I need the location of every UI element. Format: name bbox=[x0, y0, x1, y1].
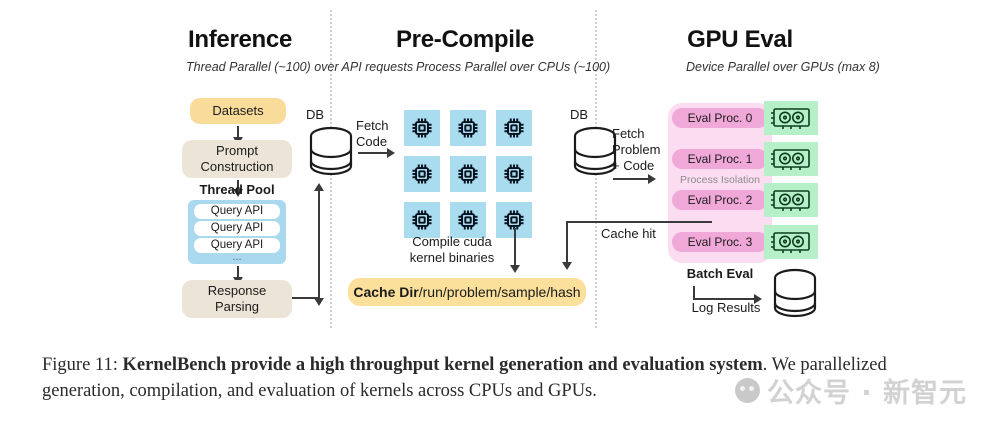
line-response-to-db-vertical bbox=[318, 190, 320, 299]
database-cylinder-inference bbox=[308, 126, 354, 182]
line-cache-hit-horizontal bbox=[566, 221, 712, 223]
cache-hit-label: Cache hit bbox=[601, 226, 656, 242]
compile-note-label: Compile cuda kernel binaries bbox=[388, 234, 516, 266]
batch-eval-label: Batch Eval bbox=[668, 266, 772, 282]
arrow-fetch-code bbox=[358, 152, 388, 154]
thread-pool-title: Thread Pool bbox=[182, 182, 292, 198]
eval-proc-pill: Eval Proc. 2 bbox=[672, 190, 768, 210]
datasets-box: Datasets bbox=[190, 98, 286, 124]
arrow-chips-to-cachedir bbox=[514, 228, 516, 266]
response-parsing-box: Response Parsing bbox=[182, 280, 292, 318]
caption-prefix: Figure 11: bbox=[42, 355, 123, 375]
caption-bold: KernelBench provide a high throughput ke… bbox=[123, 355, 763, 375]
eval-proc-pill: Eval Proc. 0 bbox=[672, 108, 768, 128]
column-title-precompile: Pre-Compile bbox=[385, 26, 545, 54]
arrow-threadpool-to-response bbox=[237, 266, 239, 278]
log-results-label: Log Results bbox=[676, 300, 776, 316]
arrow-cache-hit-down bbox=[566, 221, 568, 263]
diagram-canvas: Inference Thread Parallel (~100) over AP… bbox=[0, 0, 1000, 340]
arrow-datasets-to-prompt bbox=[237, 126, 239, 138]
figure-caption: Figure 11: KernelBench provide a high th… bbox=[42, 352, 958, 404]
cpu-chip-icon bbox=[404, 110, 440, 146]
query-api-item: Query API bbox=[194, 204, 280, 219]
eval-proc-pill: Eval Proc. 3 bbox=[672, 232, 768, 252]
cache-dir-path: /run/problem/sample/hash bbox=[419, 284, 581, 300]
arrow-fetch-problem bbox=[613, 178, 649, 180]
fetch-code-label: Fetch Code bbox=[356, 118, 389, 150]
results-database-cylinder bbox=[772, 268, 818, 324]
column-subtitle-gpueval: Device Parallel over GPUs (max 8) bbox=[686, 60, 880, 75]
cpu-chip-icon bbox=[450, 156, 486, 192]
arrowhead-into-db-inference bbox=[314, 183, 324, 191]
db-label-2: DB bbox=[570, 107, 588, 122]
gpu-card-icon bbox=[764, 225, 818, 259]
cpu-chip-icon bbox=[450, 110, 486, 146]
fetch-problem-label: Fetch Problem + Code bbox=[612, 126, 660, 174]
cpu-chip-icon bbox=[404, 156, 440, 192]
cpu-chip-icon bbox=[496, 110, 532, 146]
cpu-chip-icon bbox=[496, 156, 532, 192]
cpu-chip-icon bbox=[450, 202, 486, 238]
cache-dir-label: Cache Dir bbox=[353, 284, 418, 300]
gpu-card-icon bbox=[764, 142, 818, 176]
db-label-1: DB bbox=[306, 107, 324, 122]
column-title-gpueval: GPU Eval bbox=[660, 26, 820, 54]
query-api-ellipsis: ... bbox=[194, 249, 280, 265]
gpu-card-icon bbox=[764, 101, 818, 135]
cpu-chip-icon bbox=[404, 202, 440, 238]
query-api-item: Query API bbox=[194, 221, 280, 236]
gpu-card-icon bbox=[764, 183, 818, 217]
eval-proc-pill: Eval Proc. 1 bbox=[672, 149, 768, 169]
figure-container: Inference Thread Parallel (~100) over AP… bbox=[0, 0, 1000, 431]
process-isolation-label: Process Isolation bbox=[668, 172, 772, 188]
prompt-construction-box: Prompt Construction bbox=[182, 140, 292, 178]
column-subtitle-precompile: Process Parallel over CPUs (~100) bbox=[416, 60, 610, 75]
column-subtitle-inference: Thread Parallel (~100) over API requests bbox=[186, 60, 413, 75]
cache-dir-box: Cache Dir/run/problem/sample/hash bbox=[348, 278, 586, 306]
column-title-inference: Inference bbox=[170, 26, 310, 54]
